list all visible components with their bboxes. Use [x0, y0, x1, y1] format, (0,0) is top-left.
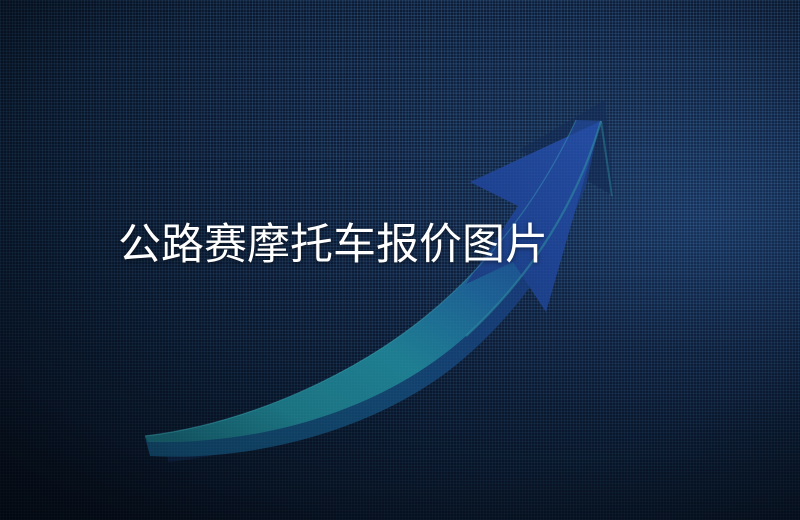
page-title: 公路赛摩托车报价图片 — [118, 217, 548, 273]
banner-image: 公路赛摩托车报价图片 — [0, 0, 800, 520]
